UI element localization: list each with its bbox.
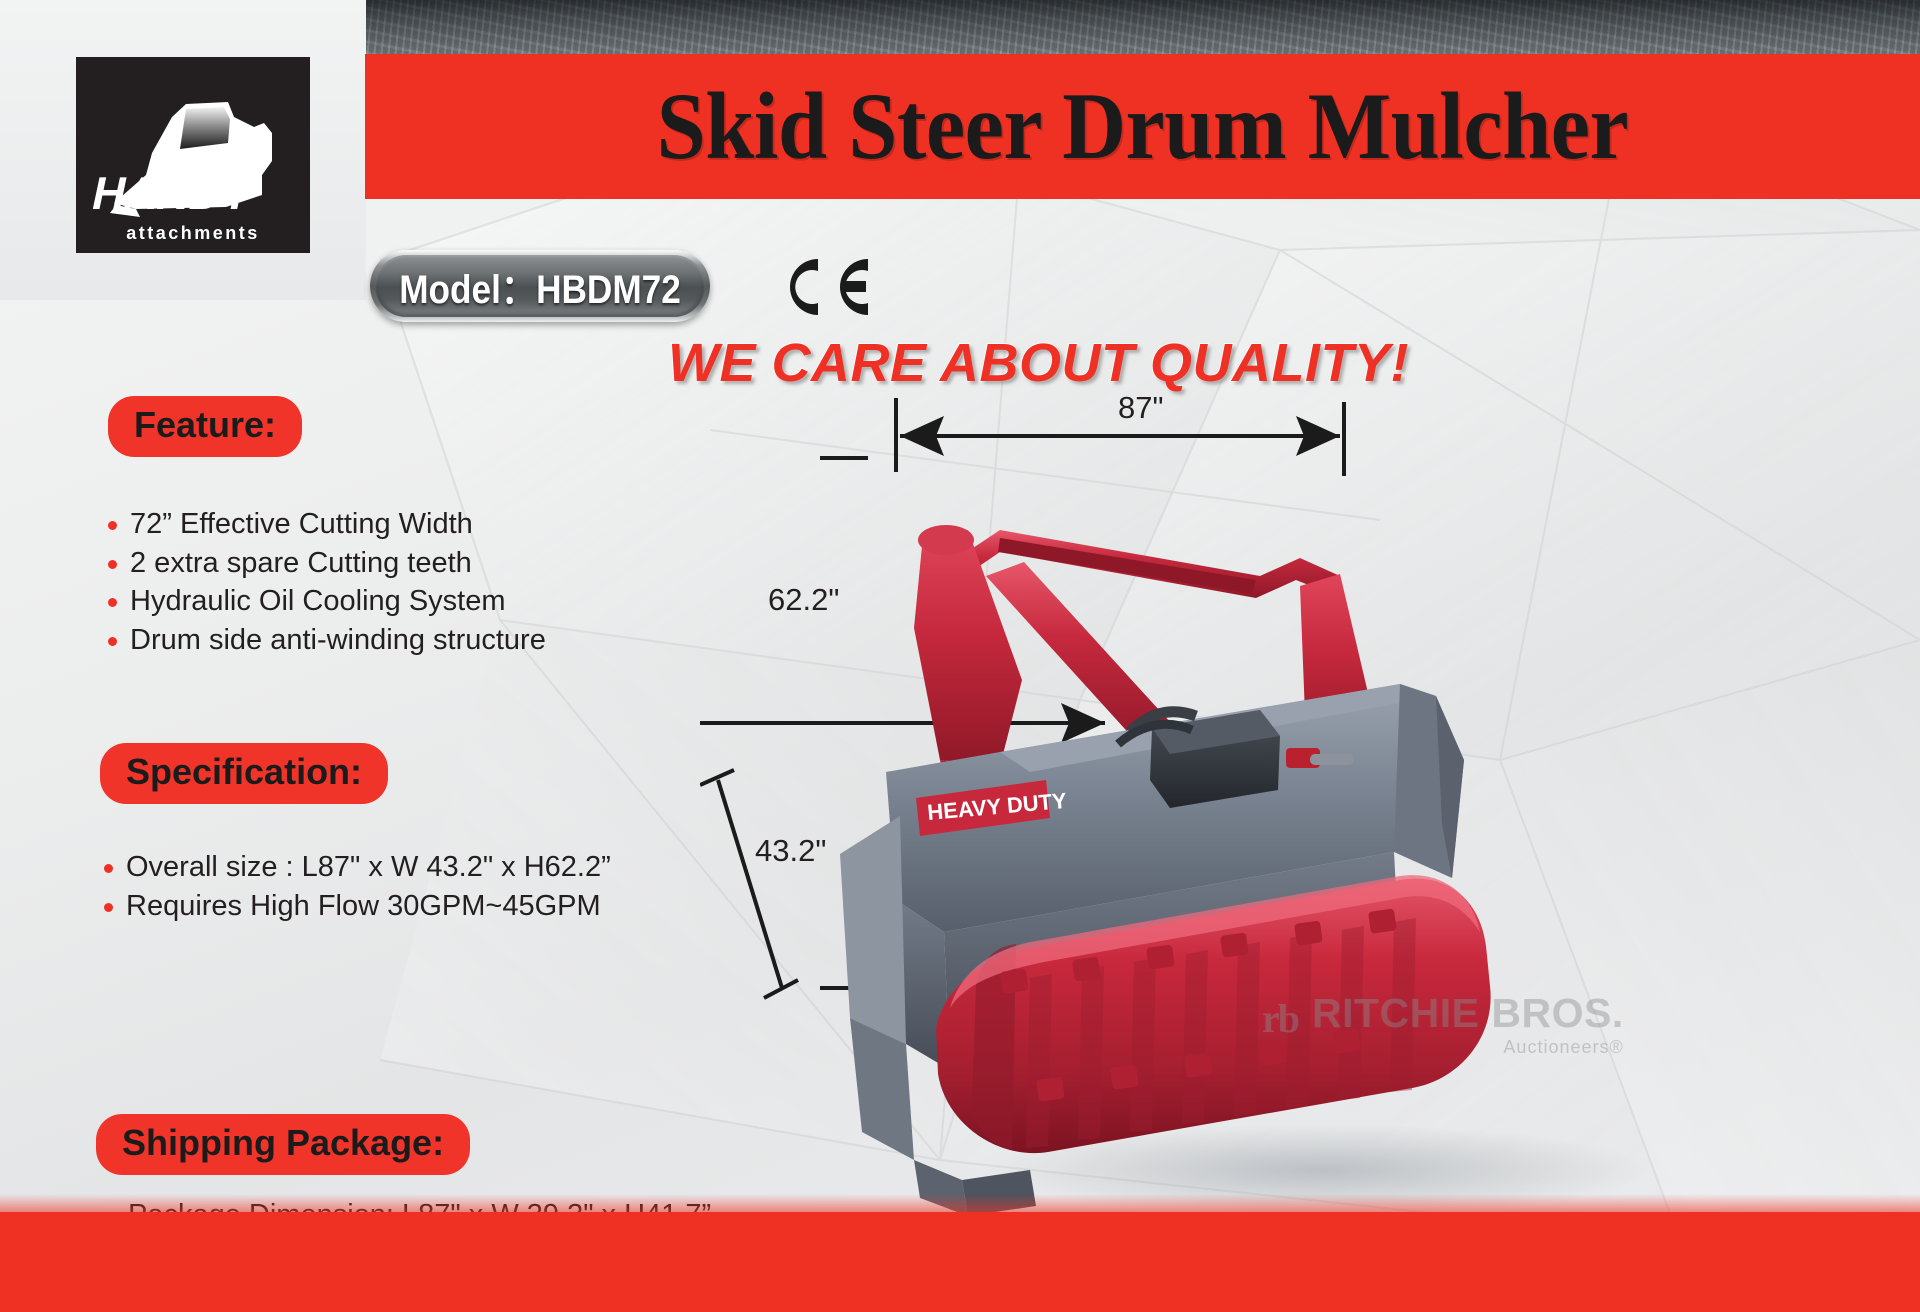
svg-text:HANDY: HANDY bbox=[88, 167, 258, 218]
dimension-width-label: 87" bbox=[1118, 390, 1164, 426]
dimension-depth-label: 43.2" bbox=[755, 833, 826, 869]
logo-wordmark: HANDY bbox=[88, 167, 258, 218]
watermark-name: RITCHIE BROS. bbox=[1312, 993, 1624, 1034]
list-item: 2 extra spare Cutting teeth bbox=[104, 544, 546, 583]
feature-list: 72” Effective Cutting Width 2 extra spar… bbox=[104, 505, 546, 659]
specification-heading: Specification: bbox=[100, 743, 388, 804]
brand-logo: HANDY attachments bbox=[76, 57, 310, 253]
feature-heading: Feature: bbox=[108, 396, 302, 457]
ce-conformity-icon bbox=[778, 253, 878, 321]
dimension-depth-arrow bbox=[700, 770, 798, 998]
bottom-bar-fade bbox=[0, 1194, 1920, 1212]
rb-monogram: rb bbox=[1262, 999, 1298, 1039]
list-item: Drum side anti-winding structure bbox=[104, 621, 546, 660]
logo-subtext: attachments bbox=[126, 223, 260, 243]
list-item: Requires High Flow 30GPM~45GPM bbox=[100, 887, 611, 926]
bottom-red-bar bbox=[0, 1212, 1920, 1312]
specification-list: Overall size : L87" x W 43.2" x H62.2” R… bbox=[100, 848, 611, 925]
model-badge-inner: Model：HBDM72 bbox=[375, 255, 705, 317]
watermark-subtext: Auctioneers® bbox=[1312, 1038, 1624, 1056]
ritchie-bros-watermark: rb RITCHIE BROS. Auctioneers® bbox=[1262, 993, 1624, 1056]
list-item: Hydraulic Oil Cooling System bbox=[104, 582, 546, 621]
list-item: 72” Effective Cutting Width bbox=[104, 505, 546, 544]
title-banner: Skid Steer Drum Mulcher bbox=[365, 54, 1920, 199]
dimension-height-label: 62.2" bbox=[768, 582, 839, 618]
shipping-package-heading: Shipping Package: bbox=[96, 1114, 470, 1175]
list-item: Overall size : L87" x W 43.2" x H62.2” bbox=[100, 848, 611, 887]
model-badge: Model：HBDM72 bbox=[370, 250, 710, 322]
top-stone-texture-strip bbox=[365, 0, 1920, 54]
model-label: Model：HBDM72 bbox=[399, 257, 681, 315]
mulcher-machine: HEAVY DUTY bbox=[840, 525, 1491, 1216]
skid-steer-drum-mulcher-photo: HEAVY DUTY bbox=[700, 380, 1920, 1260]
page-title: Skid Steer Drum Mulcher bbox=[657, 79, 1629, 174]
